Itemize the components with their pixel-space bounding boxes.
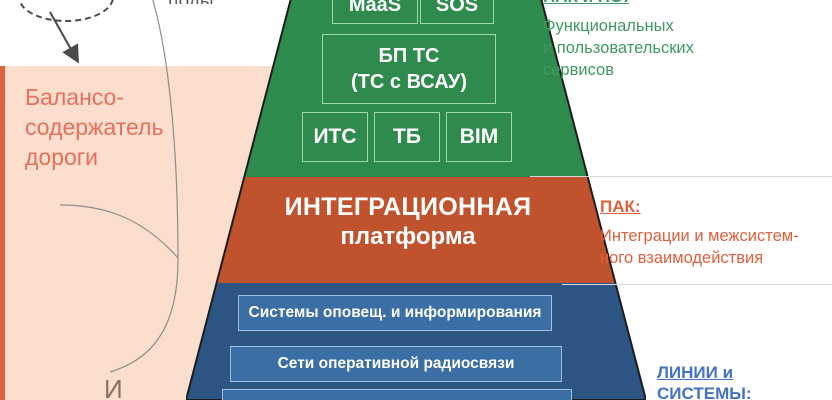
- annotation-blue: ЛИНИИ иСИСТЕМЫ:: [657, 362, 832, 400]
- annotation-orange: ПАК: Интеграции и межсистем-ного взаимод…: [600, 196, 832, 269]
- annotation-divider-top: [530, 176, 832, 177]
- annotation-blue-heading: ЛИНИИ иСИСТЕМЫ:: [657, 362, 832, 400]
- node-bpts[interactable]: БП ТС (ТС с ВСАУ): [322, 34, 496, 104]
- annotation-orange-body: Интеграции и межсистем-ного взаимодейств…: [600, 225, 832, 269]
- node-bim[interactable]: BIM: [446, 112, 512, 162]
- annotation-green: ПАК и ПО: Функциональныхи пользовательск…: [543, 0, 793, 81]
- integration-platform-title: ИНТЕГРАЦИОННАЯ платформа: [258, 192, 558, 252]
- node-radio-networks[interactable]: Сети оперативной радиосвязи: [230, 346, 562, 382]
- node-maas[interactable]: MaaS: [332, 0, 418, 24]
- node-sos[interactable]: SOS: [420, 0, 494, 24]
- diagram-canvas: Балансо-содержательдороги И цоды: [0, 0, 832, 400]
- annotation-divider-middle: [562, 284, 832, 285]
- annotation-green-heading: ПАК и ПО:: [543, 0, 793, 8]
- integration-title-line1: ИНТЕГРАЦИОННАЯ: [258, 192, 558, 222]
- integration-title-line2: платформа: [258, 222, 558, 252]
- node-tb[interactable]: ТБ: [374, 112, 440, 162]
- node-its[interactable]: ИТС: [302, 112, 368, 162]
- node-alert-systems[interactable]: Системы оповещ. и информирования: [238, 295, 552, 331]
- annotation-orange-heading: ПАК:: [600, 196, 832, 218]
- node-bpts-line1: БП ТС: [379, 43, 440, 69]
- annotation-green-body: Функциональныхи пользовательскихсервисов: [543, 15, 793, 81]
- node-blue-cut-off[interactable]: [222, 389, 572, 400]
- node-bpts-line2: (ТС с ВСАУ): [351, 69, 467, 95]
